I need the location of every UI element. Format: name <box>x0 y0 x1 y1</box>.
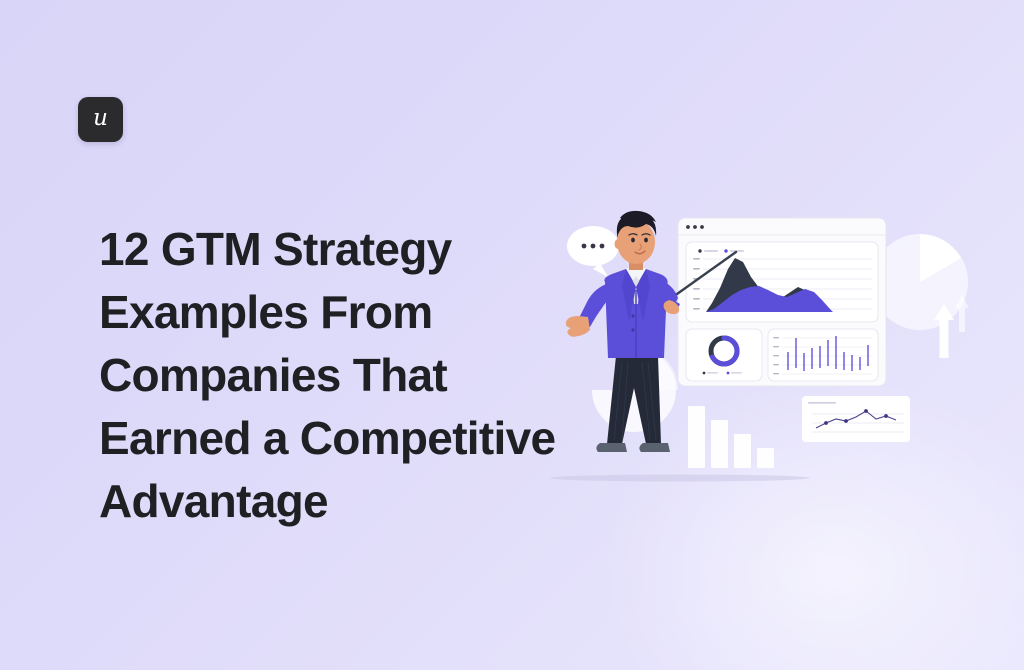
hero-banner: u 12 GTM Strategy Examples From Companie… <box>0 0 1024 670</box>
page-title: 12 GTM Strategy Examples From Companies … <box>99 218 569 533</box>
donut-chart-card <box>686 329 762 381</box>
candlestick-chart-card <box>768 329 878 381</box>
speech-bubble <box>567 226 619 277</box>
area-chart-card <box>686 242 878 322</box>
decorative-bar-chart <box>688 406 774 468</box>
window-dots <box>686 225 704 229</box>
brand-logo-mark: u <box>93 107 108 130</box>
dashboard-window <box>678 218 886 386</box>
floating-line-chart-card <box>802 396 910 442</box>
brand-logo[interactable]: u <box>78 97 123 142</box>
hero-illustration <box>530 190 1024 510</box>
ground-shadow <box>550 475 810 482</box>
